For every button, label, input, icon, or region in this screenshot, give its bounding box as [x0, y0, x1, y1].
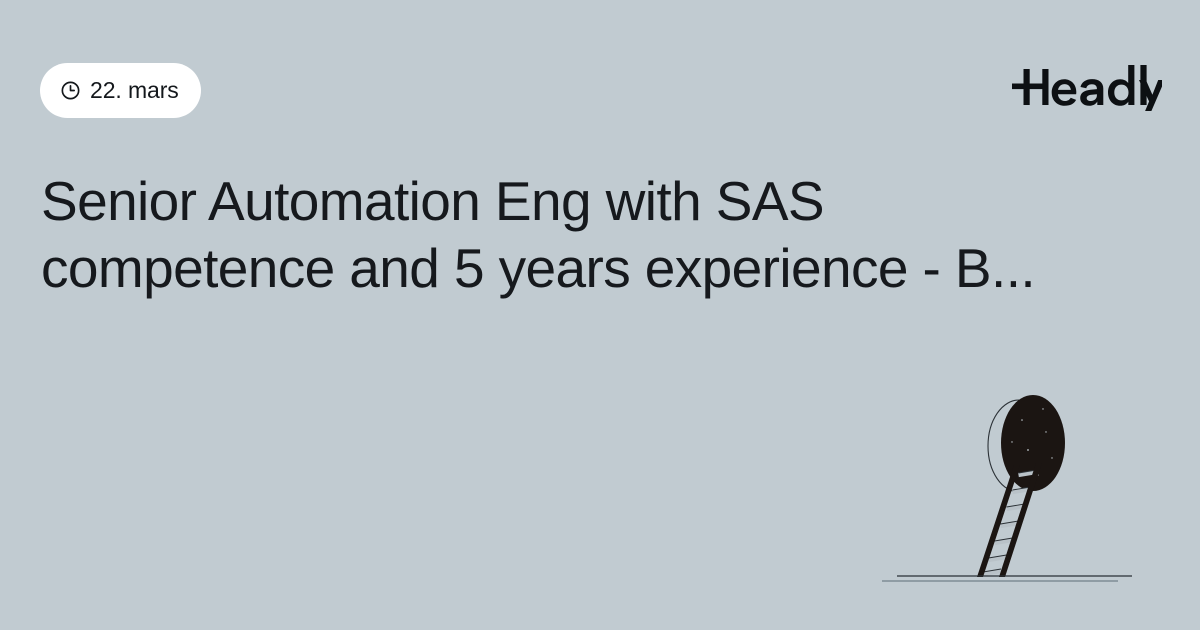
clock-icon — [60, 80, 81, 101]
headly-logo[interactable]: Headly — [1012, 62, 1162, 114]
social-share-card: 22. mars Headly Senior Auto — [0, 0, 1200, 630]
ladder — [977, 463, 1042, 577]
page-title: Senior Automation Eng with SAS competenc… — [41, 168, 1151, 302]
ladder-into-portal-illustration — [860, 380, 1180, 600]
date-label: 22. mars — [90, 79, 179, 102]
date-badge: 22. mars — [40, 63, 201, 118]
ground-line — [882, 576, 1132, 581]
